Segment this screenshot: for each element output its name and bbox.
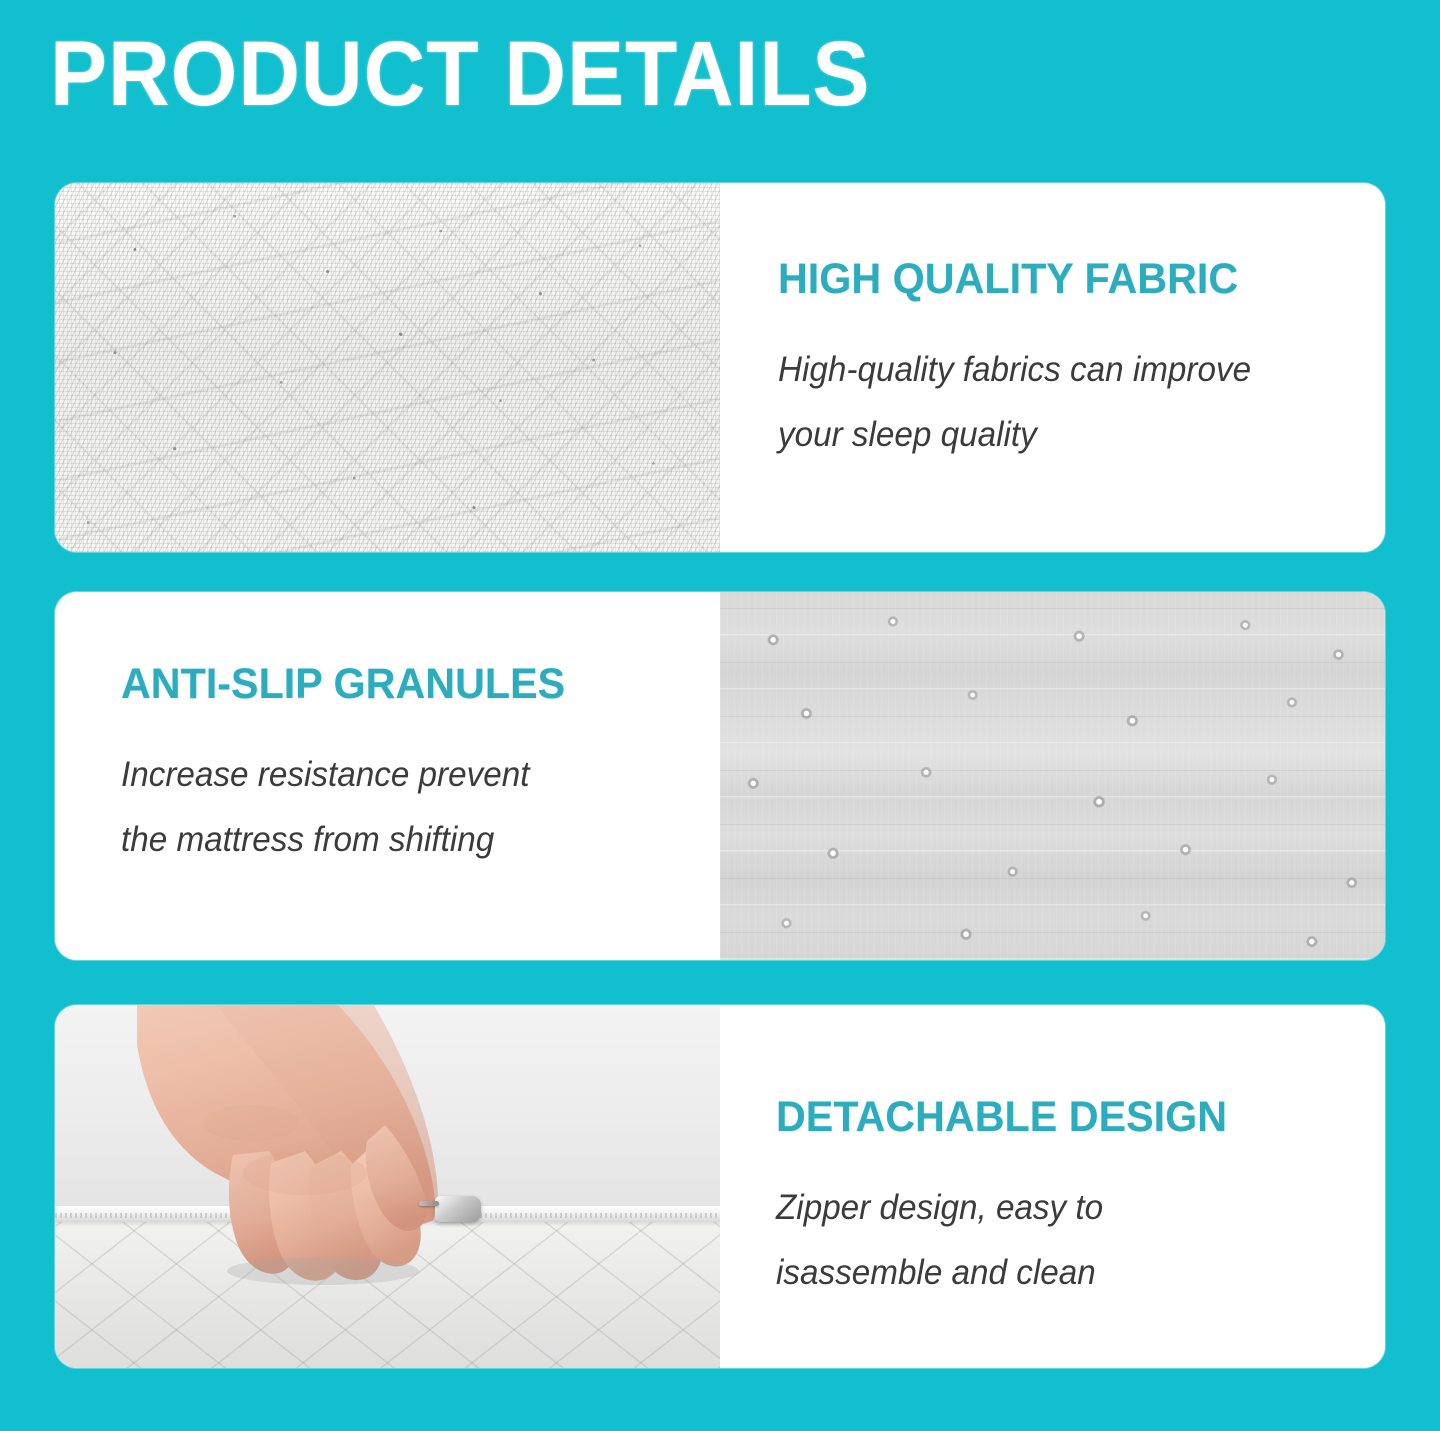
zipper-slider [435,1196,481,1222]
granule-dots-layer [720,592,1385,960]
anti-slip-granules-image [720,592,1385,960]
card-text-panel: DETACHABLE DESIGN Zipper design, easy to… [720,1005,1385,1368]
card-heading: ANTI-SLIP GRANULES [121,660,650,709]
zipper-scene [55,1005,720,1368]
card-text-panel: ANTI-SLIP GRANULES Increase resistance p… [55,592,720,960]
feature-card-detachable-design: DETACHABLE DESIGN Zipper design, easy to… [55,1005,1385,1368]
card-description: Zipper design, easy to isassemble and cl… [776,1176,1309,1306]
card-description: Increase resistance prevent the mattress… [121,743,644,873]
card-heading: HIGH QUALITY FABRIC [778,255,1315,304]
card-description: High-quality fabrics can improve your sl… [778,338,1309,468]
card-text-panel: HIGH QUALITY FABRIC High-quality fabrics… [720,183,1385,552]
hand-illustration [55,1005,720,1368]
hand-pulling-zipper-image [55,1005,720,1368]
page-title: PRODUCT DETAILS [50,28,870,120]
feature-card-anti-slip-granules: ANTI-SLIP GRANULES Increase resistance p… [55,592,1385,960]
fabric-speckle-dots [55,183,720,552]
knit-fabric-closeup-image [55,183,720,552]
card-heading: DETACHABLE DESIGN [776,1093,1315,1142]
feature-card-high-quality-fabric: HIGH QUALITY FABRIC High-quality fabrics… [55,183,1385,552]
